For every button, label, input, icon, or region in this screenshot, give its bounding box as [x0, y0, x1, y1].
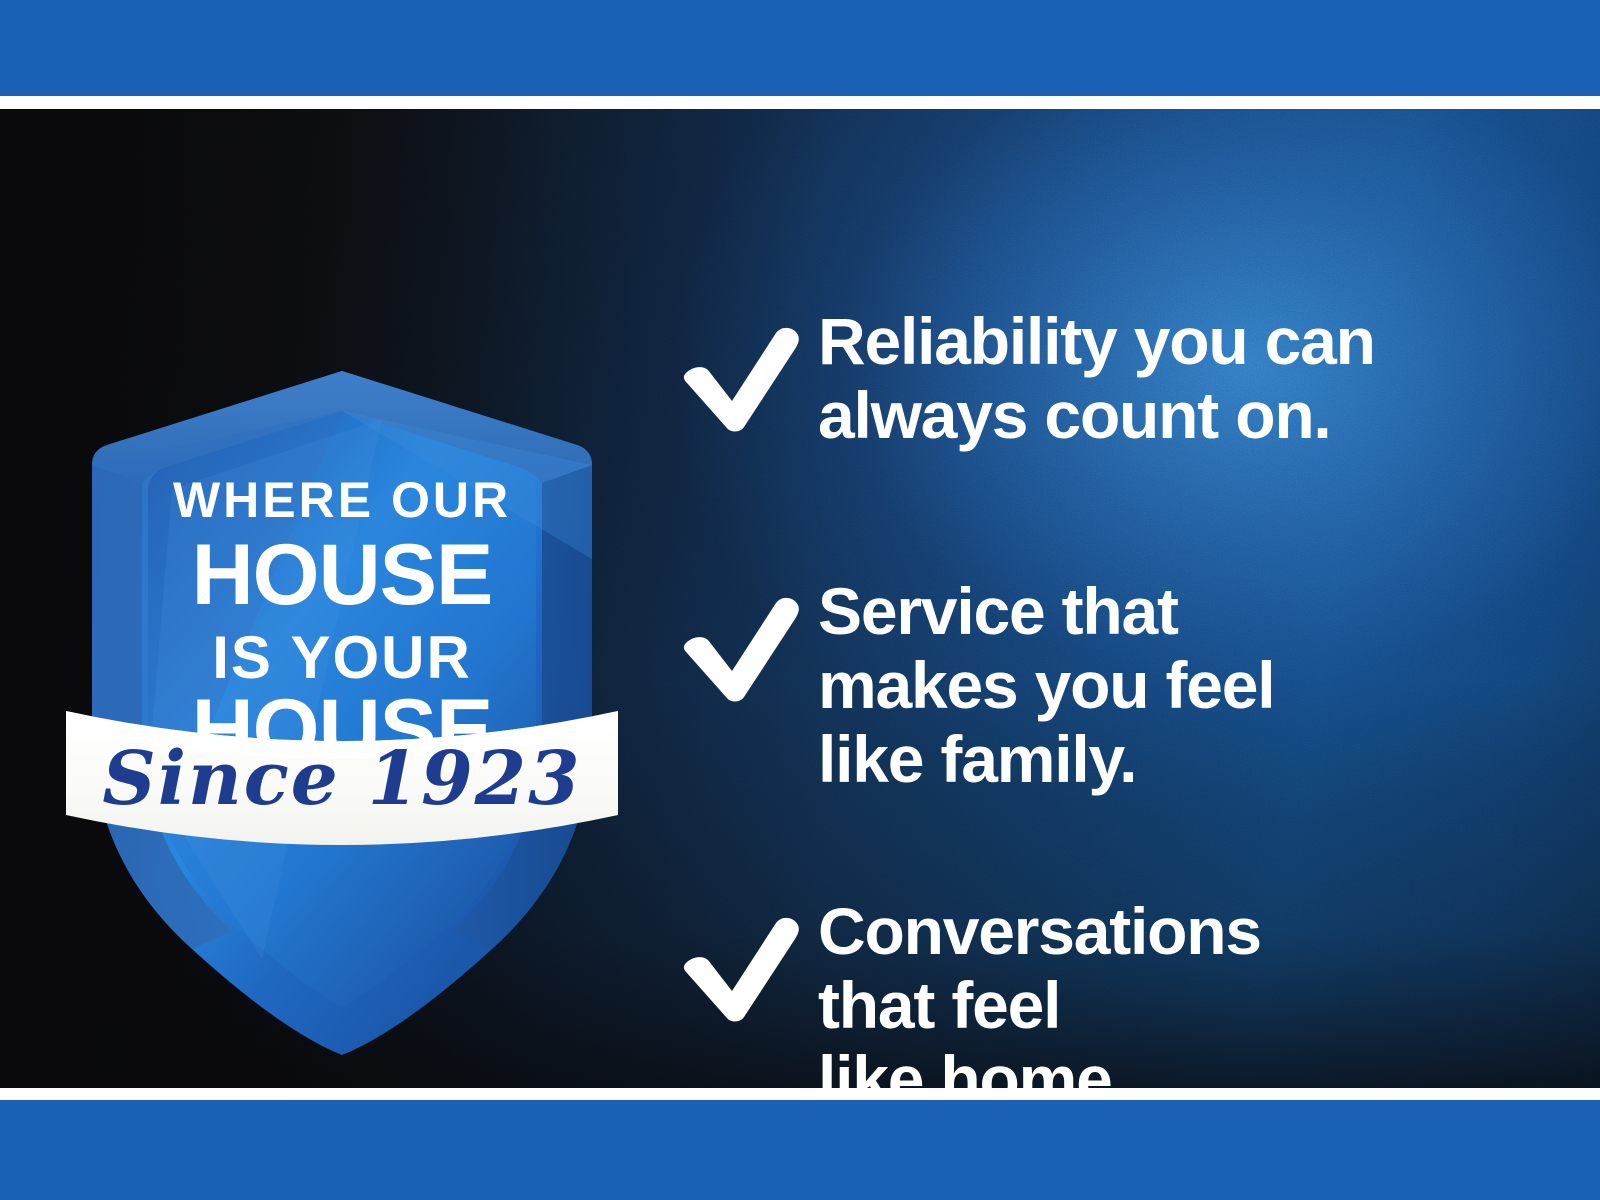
promo-graphic: WHERE OUR HOUSE IS YOUR HOUSE Since 1923 [0, 0, 1600, 1200]
company-shield-logo: WHERE OUR HOUSE IS YOUR HOUSE Since 1923 [52, 259, 632, 1059]
benefit-text: Reliability you can always count on. [818, 295, 1375, 453]
top-white-divider [0, 96, 1600, 109]
top-brand-bar [0, 0, 1600, 96]
checkmark-icon [668, 295, 818, 433]
checkmark-icon [668, 565, 818, 703]
benefit-item: Service that makes you feel like family. [668, 565, 1274, 797]
ribbon-since-text: Since 1923 [102, 736, 581, 822]
benefit-text: Conversations that feel like home. [818, 885, 1261, 1088]
shield-line-2: HOUSE [192, 527, 493, 623]
shield-line-1: WHERE OUR [173, 472, 511, 528]
benefit-text: Service that makes you feel like family. [818, 565, 1274, 797]
shield-line-3: IS YOUR [212, 624, 472, 691]
checkmark-icon [668, 885, 818, 1023]
bottom-white-divider [0, 1088, 1600, 1100]
benefit-item: Conversations that feel like home. [668, 885, 1261, 1088]
bottom-brand-bar [0, 1100, 1600, 1200]
main-stage: WHERE OUR HOUSE IS YOUR HOUSE Since 1923 [0, 109, 1600, 1088]
benefit-item: Reliability you can always count on. [668, 295, 1375, 453]
